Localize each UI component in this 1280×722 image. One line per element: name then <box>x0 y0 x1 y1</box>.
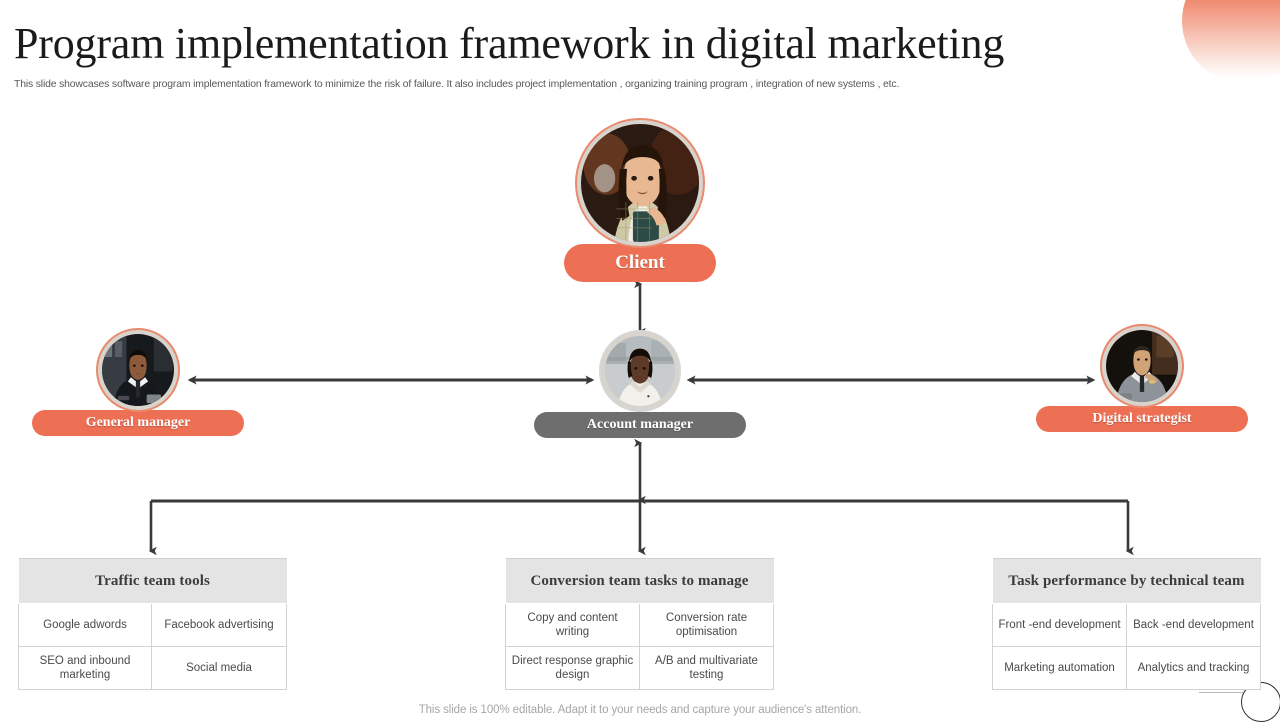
table-row: SEO and inbound marketing Social media <box>19 647 287 690</box>
page-title: Program implementation framework in digi… <box>14 16 1164 72</box>
table-cell: Marketing automation <box>993 647 1127 690</box>
table-row: Google adwords Facebook advertising <box>19 604 287 647</box>
table-conversion-header: Conversion team tasks to manage <box>506 559 774 604</box>
avatar-client <box>575 118 705 248</box>
table-cell: Social media <box>152 647 287 690</box>
table-header-row: Conversion team tasks to manage <box>506 559 774 604</box>
table-cell: A/B and multivariate testing <box>640 647 774 690</box>
bearded-man-in-grey-suit-photo <box>1106 330 1178 402</box>
node-digital-strategist[interactable]: Digital strategist <box>1036 324 1248 432</box>
table-row: Marketing automation Analytics and track… <box>993 647 1261 690</box>
table-cell: Analytics and tracking <box>1127 647 1261 690</box>
table-technical-team-performance: Task performance by technical team Front… <box>992 558 1261 690</box>
woman-with-notebook-photo <box>581 124 699 242</box>
table-traffic-header: Traffic team tools <box>19 559 287 604</box>
node-client-label[interactable]: Client <box>564 244 716 282</box>
table-cell: Conversion rate optimisation <box>640 604 774 647</box>
node-account-manager[interactable]: Account manager <box>534 330 746 438</box>
table-row: Direct response graphic design A/B and m… <box>506 647 774 690</box>
avatar-digital-strategist <box>1100 324 1184 408</box>
node-general-manager-label[interactable]: General manager <box>32 410 244 436</box>
table-cell: SEO and inbound marketing <box>19 647 152 690</box>
page-subtitle: This slide showcases software program im… <box>14 78 1164 92</box>
table-cell: Google adwords <box>19 604 152 647</box>
table-traffic-team-tools: Traffic team tools Google adwords Facebo… <box>18 558 287 690</box>
table-conversion-team-tasks: Conversion team tasks to manage Copy and… <box>505 558 774 690</box>
man-in-suit-seated-photo <box>102 334 174 406</box>
table-cell: Front -end development <box>993 604 1127 647</box>
node-account-manager-label[interactable]: Account manager <box>534 412 746 438</box>
table-row: Copy and content writing Conversion rate… <box>506 604 774 647</box>
table-technical-header: Task performance by technical team <box>993 559 1261 604</box>
table-cell: Facebook advertising <box>152 604 287 647</box>
node-digital-strategist-label[interactable]: Digital strategist <box>1036 406 1248 432</box>
avatar-general-manager <box>96 328 180 412</box>
table-header-row: Task performance by technical team <box>993 559 1261 604</box>
woman-in-white-shirt-photo <box>605 336 675 406</box>
decorative-orange-circle <box>1182 0 1280 84</box>
avatar-account-manager <box>599 330 681 412</box>
node-client[interactable]: Client <box>564 118 716 282</box>
table-cell: Copy and content writing <box>506 604 640 647</box>
node-general-manager[interactable]: General manager <box>32 328 244 436</box>
table-row: Front -end development Back -end develop… <box>993 604 1261 647</box>
table-cell: Back -end development <box>1127 604 1261 647</box>
table-cell: Direct response graphic design <box>506 647 640 690</box>
table-header-row: Traffic team tools <box>19 559 287 604</box>
slide-header: Program implementation framework in digi… <box>14 16 1164 92</box>
footer-note: This slide is 100% editable. Adapt it to… <box>0 704 1280 716</box>
